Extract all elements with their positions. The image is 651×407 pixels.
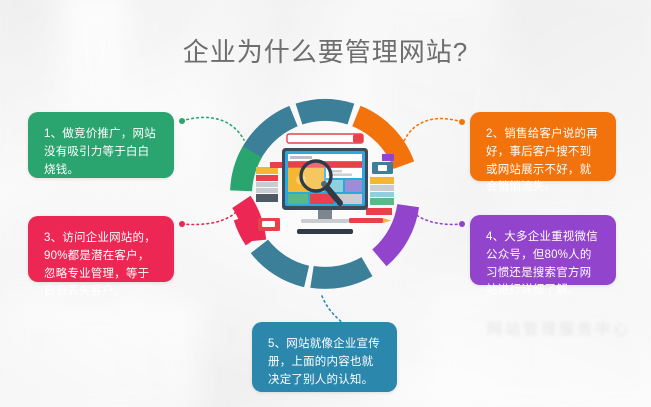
page-title: 企业为什么要管理网站? xyxy=(0,32,651,69)
ring-segment-4 xyxy=(312,267,367,278)
callout-card-2[interactable]: 2、销售给客户说的再好，事后客户搜不到或网站展示不好，就会悄悄流失。 xyxy=(470,112,616,181)
search-bar-graphic xyxy=(287,134,363,143)
left-page-cards xyxy=(256,162,286,231)
ring-segment-1 xyxy=(299,110,351,114)
ring-segment-5 xyxy=(259,246,306,276)
watermark-text: 网站管理服务中心 xyxy=(487,318,631,339)
callout-card-1[interactable]: 1、做竞价推广，网站没有吸引力等于白白烧钱。 xyxy=(28,112,174,178)
callout-card-4[interactable]: 4、大多企业重视微信公众号，但80%人的习惯还是搜索官方网站进行详细了解。 xyxy=(470,215,616,285)
callout-text-5: 5、网站就像企业宣传册，上面的内容也就决定了别人的认知。 xyxy=(268,338,380,386)
callout-card-3[interactable]: 3、访问企业网站的，90%都是潜在客户，忽略专业管理，等于白白丢失客户。 xyxy=(28,216,174,282)
ring-segment-left-green xyxy=(241,152,252,191)
right-page-cards xyxy=(366,154,394,215)
infographic-canvas: 网站管理服务中心 企业为什么要管理网站? xyxy=(0,0,651,407)
callout-text-1: 1、做竞价推广，网站没有吸引力等于白白烧钱。 xyxy=(44,128,156,176)
website-monitor-illustration xyxy=(254,132,396,242)
callout-card-5[interactable]: 5、网站就像企业宣传册，上面的内容也就决定了别人的认知。 xyxy=(252,322,397,392)
pencil-graphic xyxy=(349,218,391,223)
